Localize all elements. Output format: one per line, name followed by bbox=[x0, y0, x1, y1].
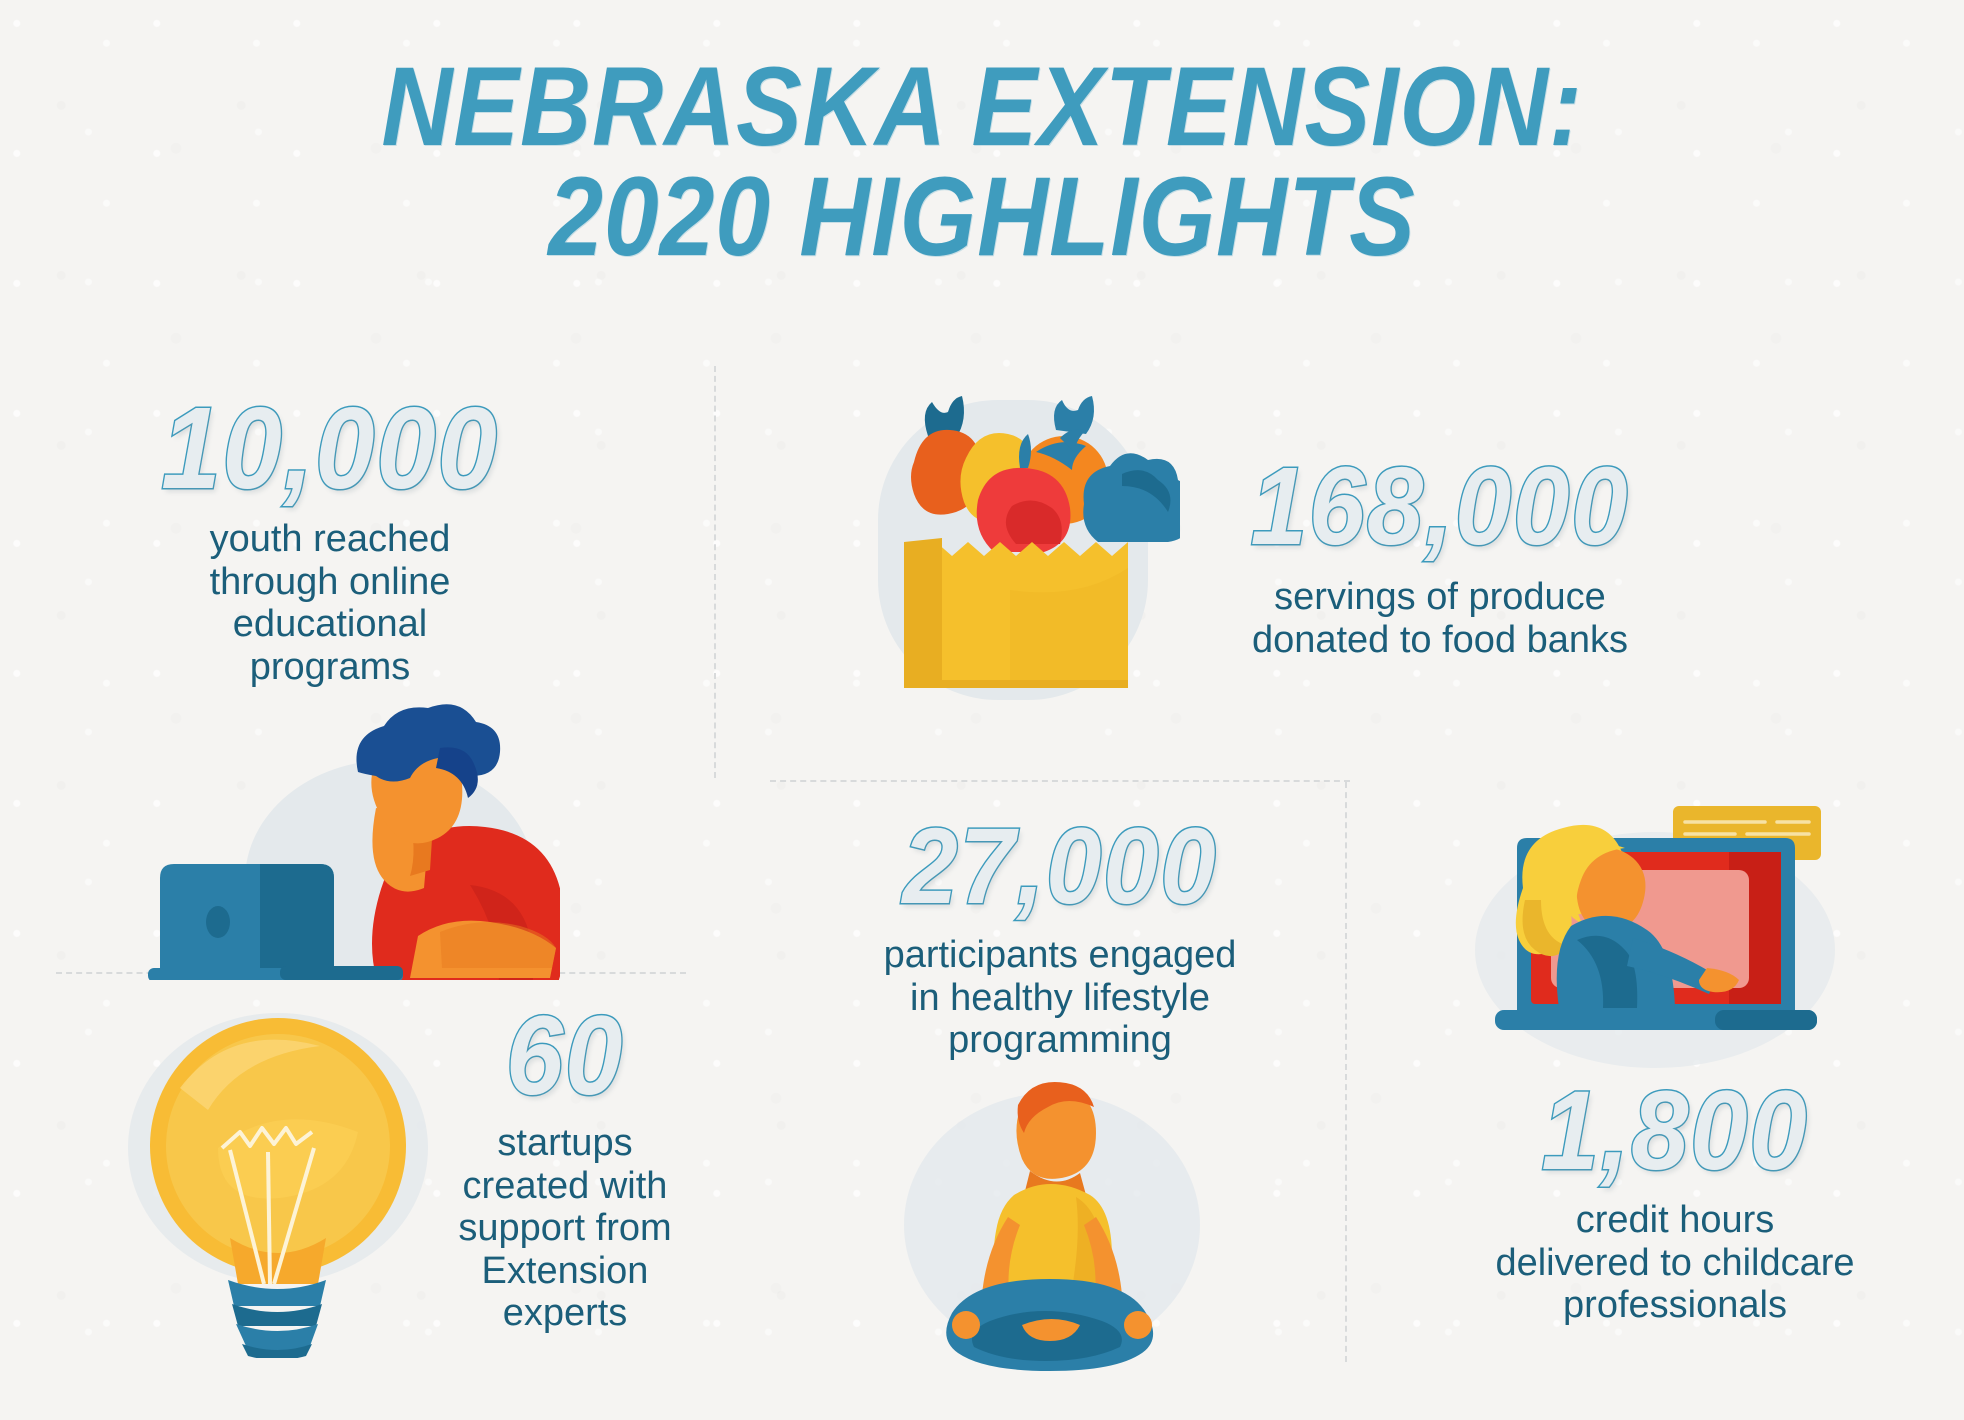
infographic-canvas: NEBRASKA EXTENSION: 2020 HIGHLIGHTS 10,0… bbox=[0, 0, 1964, 1420]
stat-credit-hours: 1,800 credit hours delivered to childcar… bbox=[1435, 1075, 1915, 1327]
page-title-line1: NEBRASKA EXTENSION: bbox=[118, 52, 1846, 162]
stat-value-startups-created: 60 bbox=[413, 1000, 717, 1112]
stat-caption-youth-reached: youth reached through online educational… bbox=[110, 518, 550, 688]
person-meditating-illustration bbox=[880, 1075, 1220, 1375]
stat-value-youth-reached: 10,000 bbox=[128, 390, 533, 506]
lightbulb-icon bbox=[118, 998, 448, 1358]
laptop-video-presenter-illustration bbox=[1465, 800, 1845, 1070]
person-at-laptop-illustration bbox=[140, 700, 560, 980]
stat-caption-healthy-lifestyle: participants engaged in healthy lifestyl… bbox=[780, 934, 1340, 1062]
laptop-video-presenter-icon bbox=[1465, 800, 1845, 1070]
stat-produce-servings: 168,000 servings of produce donated to f… bbox=[1190, 452, 1690, 661]
stat-startups-created: 60 startups created with support from Ex… bbox=[400, 1000, 730, 1335]
stat-youth-reached: 10,000 youth reached through online educ… bbox=[110, 390, 550, 688]
stat-caption-produce-servings: servings of produce donated to food bank… bbox=[1190, 576, 1690, 661]
stat-caption-credit-hours: credit hours delivered to childcare prof… bbox=[1435, 1199, 1915, 1327]
stat-caption-startups-created: startups created with support from Exten… bbox=[400, 1122, 730, 1335]
stat-healthy-lifestyle: 27,000 participants engaged in healthy l… bbox=[780, 812, 1340, 1062]
divider-horizontal-middle bbox=[770, 780, 1350, 782]
stat-value-credit-hours: 1,800 bbox=[1454, 1075, 1896, 1187]
lightbulb-illustration bbox=[118, 998, 448, 1358]
page-title-line2: 2020 HIGHLIGHTS bbox=[118, 162, 1846, 272]
divider-vertical-left bbox=[714, 366, 716, 778]
stat-value-healthy-lifestyle: 27,000 bbox=[802, 812, 1317, 920]
page-title: NEBRASKA EXTENSION: 2020 HIGHLIGHTS bbox=[118, 52, 1846, 272]
grocery-bag-illustration bbox=[860, 390, 1180, 710]
divider-vertical-right bbox=[1345, 782, 1347, 1362]
grocery-bag-icon bbox=[860, 390, 1180, 710]
person-meditating-icon bbox=[880, 1075, 1220, 1375]
person-at-laptop-icon bbox=[140, 700, 560, 980]
stat-value-produce-servings: 168,000 bbox=[1210, 452, 1670, 562]
